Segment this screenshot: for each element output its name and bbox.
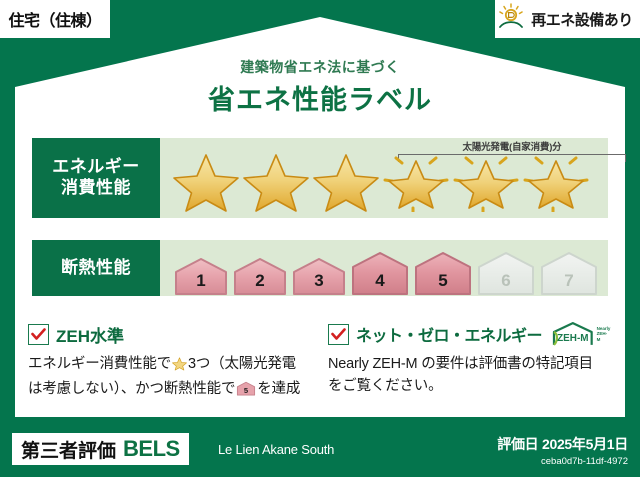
- svg-text:ZEH-M: ZEH-M: [557, 333, 588, 344]
- zeh-level-heading: ZEH水準: [28, 322, 306, 346]
- zeh-level-description: エネルギー消費性能で 3つ（太陽光発電は考慮しない）、かつ断熱性能で 5 を達成: [28, 353, 306, 404]
- star-icon-solar: [522, 150, 590, 212]
- bels-certification-badge: 第三者評価 BELS: [12, 433, 189, 465]
- building-type-text: 住宅（住棟）: [8, 7, 101, 31]
- net-zero-title: ネット・ゼロ・エネルギー: [356, 322, 542, 346]
- energy-performance-row: エネルギー 消費性能 太陽光発電(自家消費)分: [32, 138, 608, 218]
- net-zero-description: Nearly ZEH-M の要件は評価書の特記項目をご覧ください。: [328, 353, 606, 398]
- zeh-desc-part3: を達成: [257, 381, 300, 397]
- energy-label-line2: 消費性能: [61, 178, 131, 199]
- svg-text:5: 5: [244, 386, 248, 395]
- evaluation-id: ceba0d7b-11df-4972: [497, 456, 628, 467]
- star-icon-solar: [382, 150, 450, 212]
- insulation-level-number: 3: [290, 271, 348, 291]
- insulation-level-5: 5: [412, 250, 474, 296]
- insulation-label-text: 断熱性能: [61, 258, 131, 279]
- insulation-level-number: 6: [475, 271, 537, 291]
- check-icon: [28, 324, 49, 345]
- insulation-level-number: 4: [349, 271, 411, 291]
- insulation-level-number: 7: [538, 271, 600, 291]
- zeh-desc-part1: エネルギー消費性能で: [28, 356, 171, 372]
- insulation-performance-row: 断熱性能 1 2: [32, 240, 608, 296]
- insulation-level-4: 4: [349, 250, 411, 296]
- evaluation-date-label: 評価日: [497, 436, 538, 452]
- star-icon-inline: [172, 356, 187, 378]
- insulation-level-3: 3: [290, 256, 348, 296]
- star-icon: [242, 150, 310, 212]
- sun-renewable-icon: [496, 3, 526, 36]
- house-icon-inline: 5: [236, 381, 256, 403]
- insulation-rating-body: 1 2 3: [160, 240, 608, 296]
- energy-rating-body: 太陽光発電(自家消費)分: [160, 138, 608, 218]
- evaluation-date-value: 2025年5月1日: [542, 436, 628, 452]
- insulation-level-2: 2: [231, 256, 289, 296]
- net-zero-heading: ネット・ゼロ・エネルギー ZEH-M Nearly ZEH-M: [328, 322, 606, 346]
- insulation-level-number: 2: [231, 271, 289, 291]
- energy-performance-label-box: エネルギー 消費性能: [32, 138, 160, 218]
- star-icon: [312, 150, 380, 212]
- star-rating: [160, 150, 590, 212]
- evaluation-date: 評価日 2025年5月1日: [497, 434, 628, 454]
- insulation-level-1: 1: [172, 256, 230, 296]
- insulation-level-7: 7: [538, 250, 600, 296]
- insulation-performance-label-box: 断熱性能: [32, 240, 160, 296]
- star-icon: [172, 150, 240, 212]
- zeh-m-logo: ZEH-M Nearly ZEH-M: [551, 321, 611, 347]
- net-zero-energy-block: ネット・ゼロ・エネルギー ZEH-M Nearly ZEH-M Nearly Z…: [328, 322, 606, 398]
- zeh-level-title: ZEH水準: [56, 322, 124, 347]
- zeh-logo-sub2: ZEH-M: [597, 331, 608, 341]
- project-name: Le Lien Akane South: [218, 442, 334, 457]
- insulation-level-scale: 1 2 3: [160, 240, 600, 296]
- label-title: 省エネ性能ラベル: [0, 78, 640, 117]
- insulation-level-number: 5: [412, 271, 474, 291]
- building-type-badge: 住宅（住棟）: [0, 0, 110, 38]
- insulation-level-6: 6: [475, 250, 537, 296]
- evaluation-info: 評価日 2025年5月1日 ceba0d7b-11df-4972: [497, 434, 628, 467]
- label-subtitle: 建築物省エネ法に基づく: [0, 57, 640, 77]
- label-footer: 第三者評価 BELS Le Lien Akane South 評価日 2025年…: [0, 427, 640, 477]
- renewable-badge-text: 再エネ設備あり: [531, 9, 633, 30]
- energy-label-line1: エネルギー: [52, 157, 140, 178]
- bels-logo-text: BELS: [123, 436, 180, 462]
- insulation-level-number: 1: [172, 271, 230, 291]
- third-party-label: 第三者評価: [21, 436, 116, 463]
- check-icon: [328, 324, 349, 345]
- renewable-energy-badge: 再エネ設備あり: [495, 0, 640, 38]
- star-icon-solar: [452, 150, 520, 212]
- zeh-level-block: ZEH水準 エネルギー消費性能で 3つ（太陽光発電は考慮しない）、かつ断熱性能で…: [28, 322, 306, 404]
- energy-performance-label: 住宅（住棟） 再エネ設備あり 建築物省エネ法に基づく 省エネ性能ラベル: [0, 0, 640, 477]
